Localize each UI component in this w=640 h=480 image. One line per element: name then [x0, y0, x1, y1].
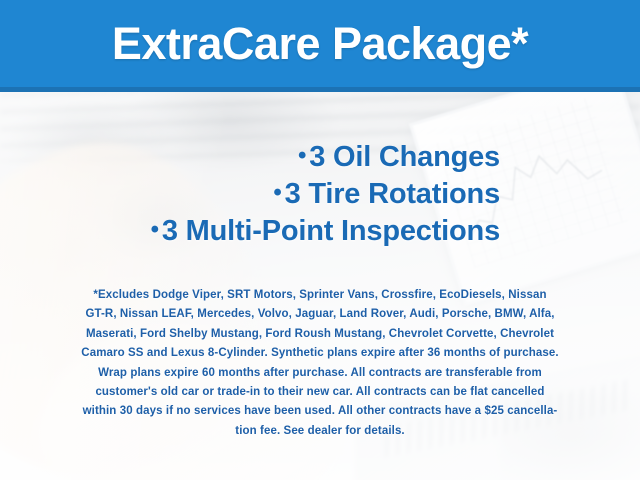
- list-item-label: 3 Multi-Point Inspections: [162, 215, 500, 247]
- extracare-package-ad: ExtraCare Package* •3 Oil Changes •3 Tir…: [0, 0, 640, 480]
- disclaimer-line: tion fee. See dealer for details.: [30, 422, 610, 441]
- list-item: •3 Oil Changes: [0, 138, 500, 175]
- disclaimer-line: GT-R, Nissan LEAF, Mercedes, Volvo, Jagu…: [30, 305, 610, 324]
- list-item: •3 Tire Rotations: [0, 175, 500, 212]
- disclaimer-line: Maserati, Ford Shelby Mustang, Ford Rous…: [30, 325, 610, 344]
- list-item-label: 3 Tire Rotations: [285, 178, 500, 210]
- list-item-label: 3 Oil Changes: [309, 141, 500, 173]
- disclaimer-line: Wrap plans expire 60 months after purcha…: [30, 364, 610, 383]
- disclaimer-line: within 30 days if no services have been …: [30, 402, 610, 421]
- banner-bottom-edge: [0, 87, 640, 92]
- page-title: ExtraCare Package*: [0, 0, 640, 87]
- bullet-dot-icon: •: [151, 216, 162, 243]
- bullet-dot-icon: •: [298, 142, 309, 169]
- disclaimer-line: customer's old car or trade-in to their …: [30, 383, 610, 402]
- bullet-dot-icon: •: [273, 179, 284, 206]
- offer-list: •3 Oil Changes •3 Tire Rotations •3 Mult…: [0, 138, 500, 249]
- header-banner: ExtraCare Package*: [0, 0, 640, 92]
- disclaimer-line: *Excludes Dodge Viper, SRT Motors, Sprin…: [30, 286, 610, 305]
- disclaimer-line: Camaro SS and Lexus 8-Cylinder. Syntheti…: [30, 344, 610, 363]
- disclaimer-text: *Excludes Dodge Viper, SRT Motors, Sprin…: [30, 286, 610, 441]
- list-item: •3 Multi-Point Inspections: [0, 212, 500, 249]
